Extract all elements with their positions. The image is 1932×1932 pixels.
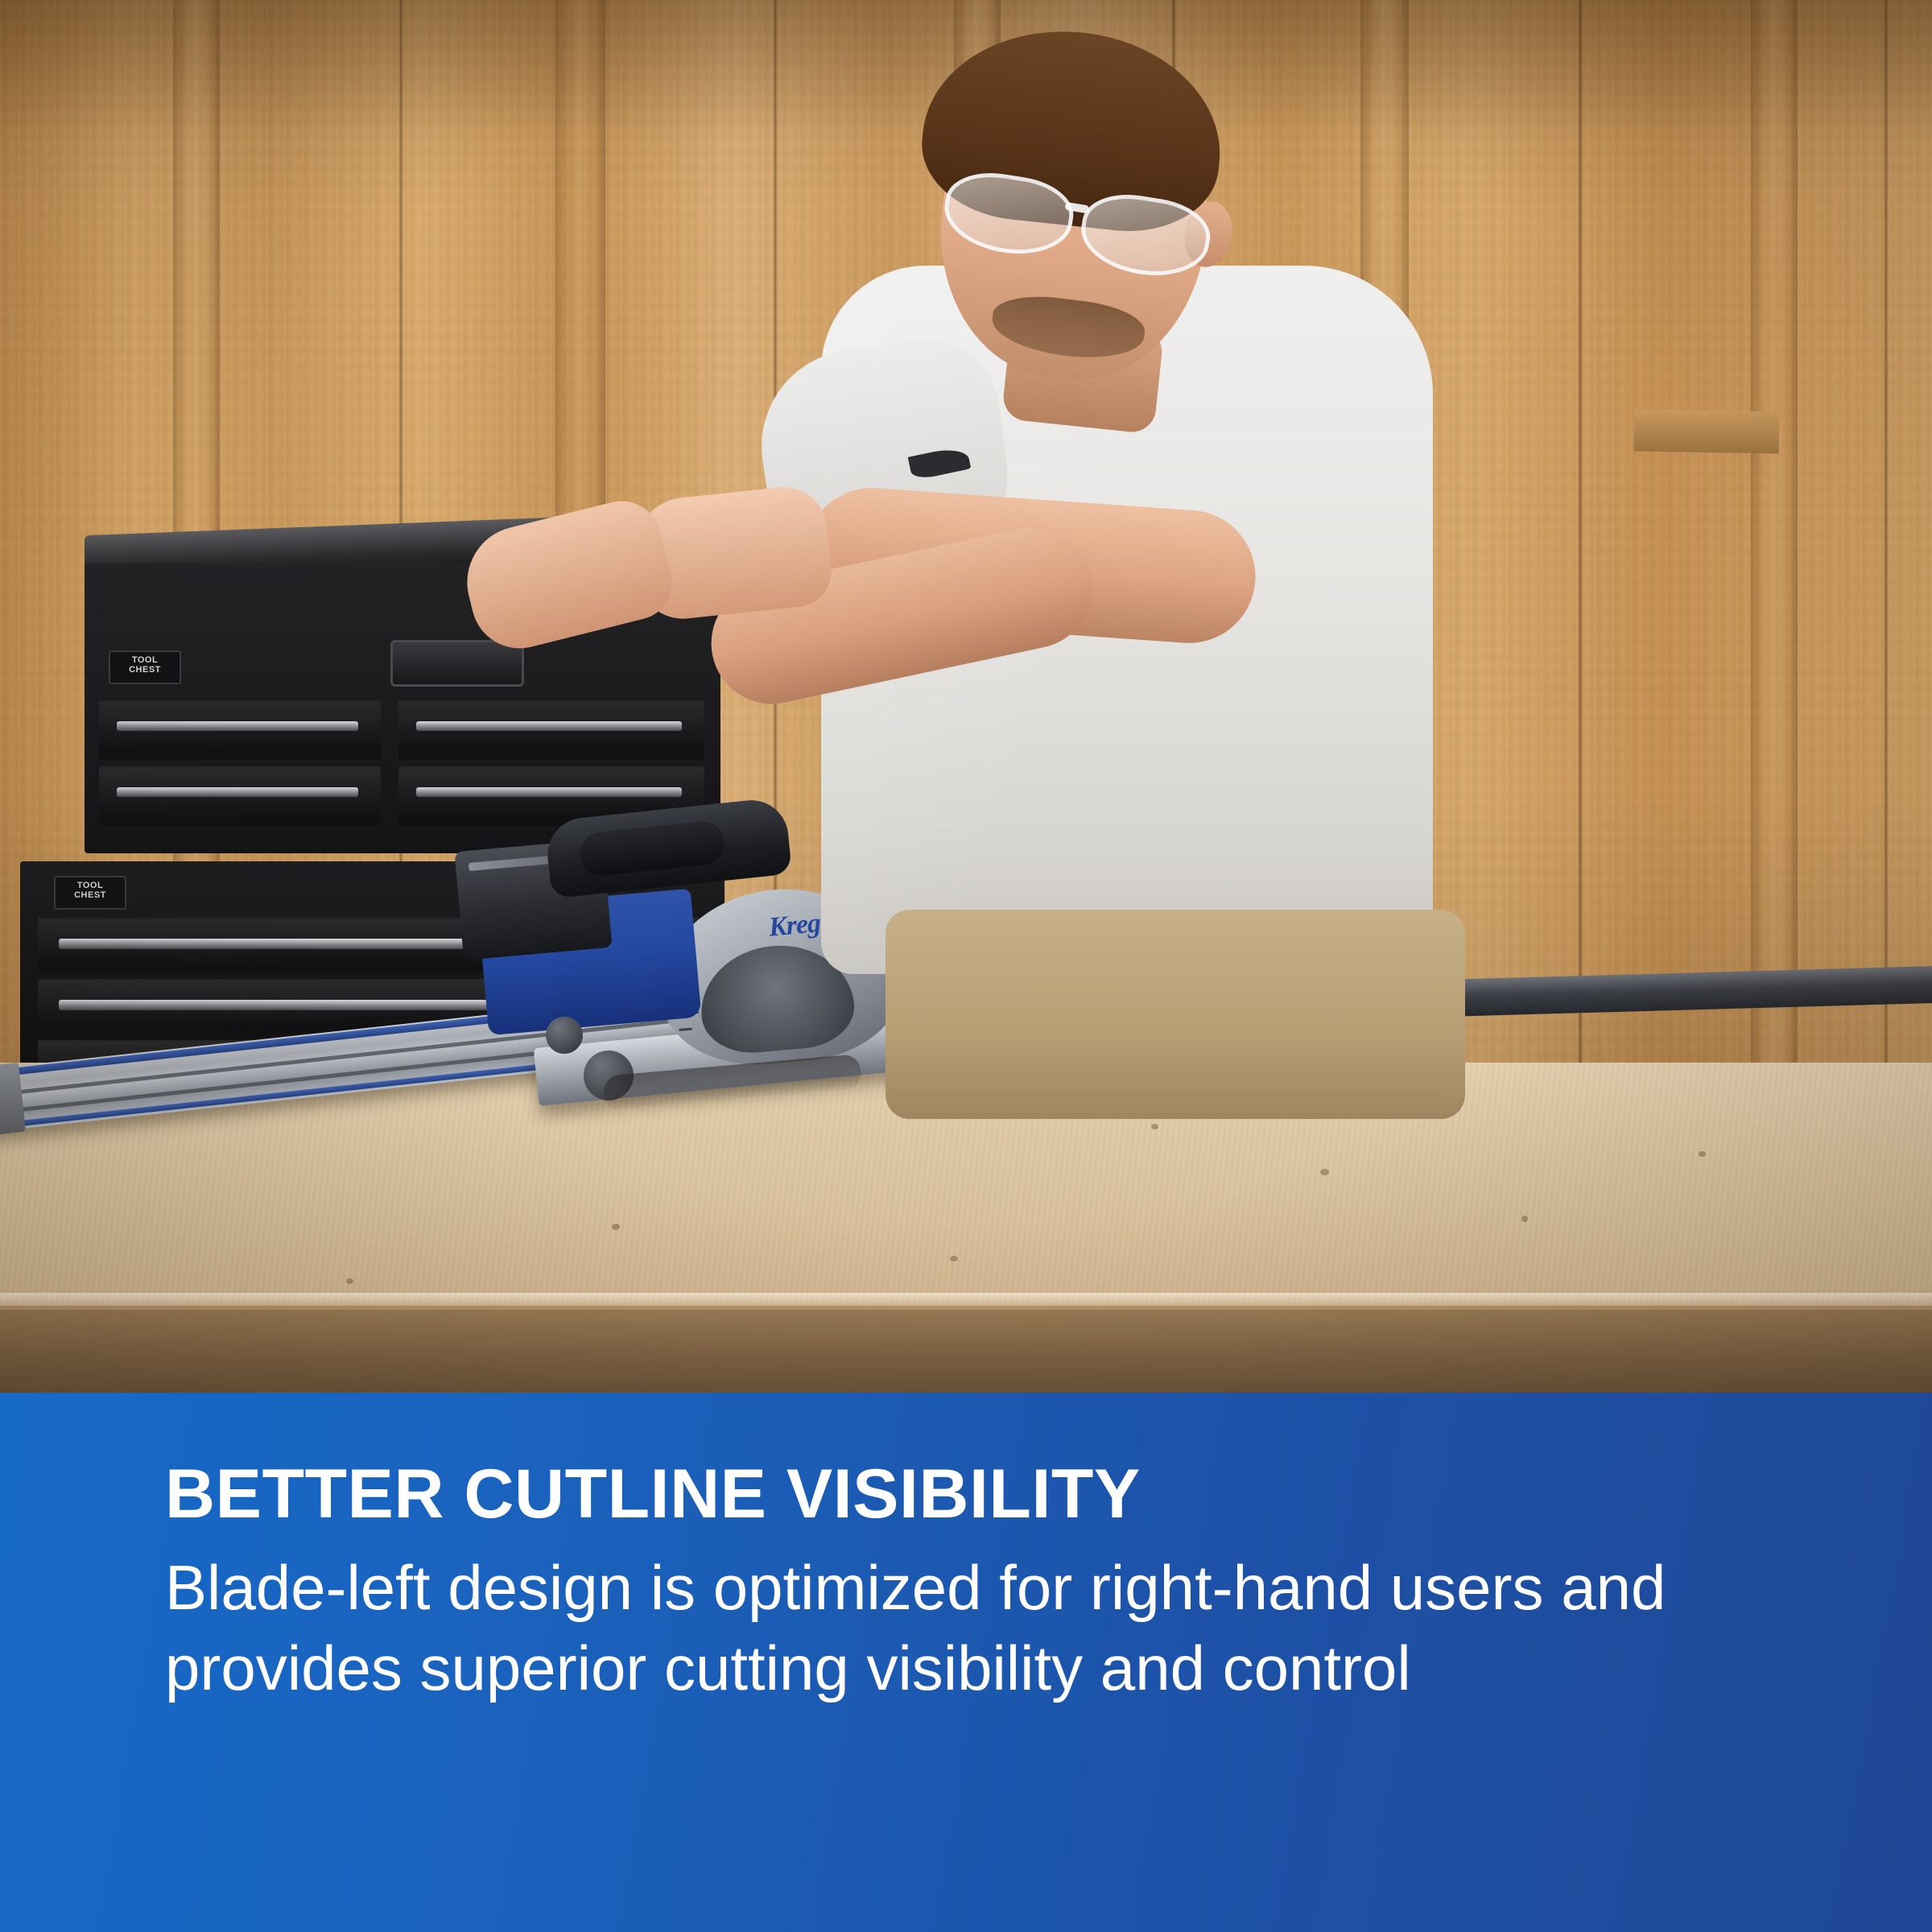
caption-banner: BETTER CUTLINE VISIBILITY Blade-left des… [0,1393,1932,1932]
caption-description: Blade-left design is optimized for right… [165,1547,1759,1708]
plywood-speck [612,1224,620,1230]
plywood-speck [346,1278,353,1284]
plywood-speck [1521,1216,1528,1222]
plywood-speck [1151,1124,1158,1129]
tool-chest-drawer-pull [416,721,682,731]
person-pants [885,910,1465,1119]
plywood-speck [950,1256,958,1261]
caption-headline: BETTER CUTLINE VISIBILITY [165,1455,1811,1533]
tool-chest-drawer-pull [416,787,682,797]
plywood-speck [1320,1169,1329,1175]
tool-chest-drawer-pull [117,721,358,731]
plywood-speck [1699,1151,1706,1157]
tool-chest-lid-handle [390,640,524,687]
product-photo: TOOLCHEST TOOLCHEST [0,0,1932,1393]
workbench-front-apron [0,1306,1932,1393]
tool-chest-badge: TOOLCHEST [54,876,126,910]
tool-chest-drawer-pull [117,787,358,797]
tool-chest-badge: TOOLCHEST [109,650,181,684]
product-feature-card: TOOLCHEST TOOLCHEST [0,0,1932,1932]
saw-depth-knob [546,1017,583,1054]
person-operating-saw [708,0,1707,1111]
